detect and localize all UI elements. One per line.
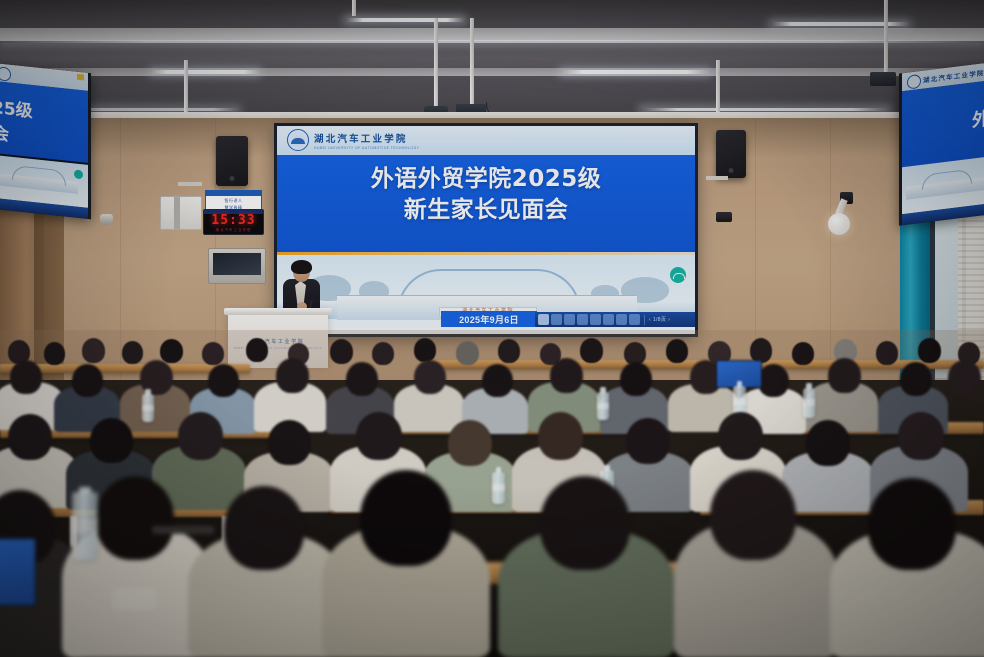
led-clock-subtext: 湖北汽车工业学院: [204, 228, 263, 233]
slide-title: 外语外贸学院2025级 新生家长见面会: [277, 164, 695, 226]
audience-head: [718, 412, 763, 460]
audience-head: [372, 342, 394, 365]
water-bottle: [72, 492, 98, 560]
university-emblem-icon: [287, 129, 309, 151]
eyeglasses: [152, 526, 214, 534]
audience-head: [346, 362, 378, 396]
ceiling-beam-2: [0, 68, 984, 76]
audience-head: [580, 338, 603, 363]
audience-head: [900, 362, 932, 396]
pointer-icon[interactable]: [551, 314, 562, 325]
speaker-bracket-left: [178, 182, 202, 186]
audience-head: [276, 358, 309, 393]
led-light-strip-6: [640, 108, 890, 111]
slide-date-text: 2025年9月6日: [459, 313, 519, 326]
toolbar-divider: [644, 315, 645, 325]
audience-head: [710, 470, 796, 560]
wall-lamp-globe: [828, 213, 850, 235]
audience-head: [414, 338, 436, 362]
slide-title-line2: 新生家长见面会: [277, 195, 695, 226]
light-pole-left: [352, 0, 356, 16]
tissue: [112, 588, 156, 610]
university-logo: 湖北汽车工业学院 HUBEI UNIVERSITY OF AUTOMOTIVE …: [287, 129, 419, 151]
play-icon[interactable]: [538, 314, 549, 325]
university-emblem-icon: [0, 66, 11, 81]
zoom-icon[interactable]: [616, 314, 627, 325]
water-bottle: [597, 392, 609, 420]
audience-head: [448, 420, 492, 466]
audience-head: [538, 412, 583, 460]
wall-speaker-right: [716, 130, 746, 178]
audience-head: [792, 342, 814, 365]
audience-head: [620, 362, 652, 396]
prev-page-icon[interactable]: ‹: [649, 317, 651, 323]
audience-head: [868, 478, 956, 570]
audience-head: [82, 338, 105, 363]
audience-head: [202, 342, 224, 365]
logo-name-en: HUBEI UNIVERSITY OF AUTOMOTIVE TECHNOLOG…: [314, 146, 419, 150]
main-projection-screen: 湖北汽车工业学院 HUBEI UNIVERSITY OF AUTOMOTIVE …: [277, 126, 695, 334]
ceiling-projector-right: [870, 72, 896, 86]
slide-grid-icon[interactable]: [603, 314, 614, 325]
water-bottle: [492, 472, 505, 504]
water-bottle: [142, 394, 154, 422]
next-page-icon[interactable]: ›: [668, 317, 670, 323]
phone-screen: [0, 539, 35, 605]
audience-head: [268, 420, 311, 465]
highlighter-icon[interactable]: [577, 314, 588, 325]
wall-control-unit[interactable]: [160, 196, 202, 230]
audience-head: [876, 341, 898, 365]
audience-head: [550, 358, 583, 393]
audience-area: [0, 330, 984, 657]
led-light-strip-2: [150, 70, 260, 74]
right-display-tv: 湖北汽车工业学院 外: [899, 62, 984, 225]
audience-head: [330, 339, 353, 364]
audience-head: [96, 476, 174, 560]
audience-head: [948, 360, 981, 395]
audience-head: [356, 412, 402, 460]
smartphone[interactable]: [0, 538, 36, 606]
audience-head: [414, 360, 446, 394]
audience-head: [918, 338, 941, 363]
audience-head: [224, 486, 304, 570]
podium-top: [224, 308, 332, 315]
audience-head: [898, 412, 944, 460]
presenter-hair: [291, 260, 312, 274]
audience-head: [456, 341, 479, 365]
water-bottle: [803, 388, 815, 418]
led-light-strip-4: [560, 70, 710, 74]
tv-label-sticker: [77, 74, 84, 81]
wall-speaker-left: [216, 136, 248, 186]
audience-head: [246, 338, 268, 362]
emergency-light: [716, 212, 732, 222]
audience-head: [540, 476, 630, 570]
wall-monitor: [208, 248, 266, 284]
audience-head: [482, 364, 513, 397]
lecture-hall-photo: 25级 会 湖北汽车工业学院 外 湖北汽车工业学院 HUB: [0, 0, 984, 657]
audience-head: [498, 339, 520, 363]
pen-icon[interactable]: [564, 314, 575, 325]
audience-head: [626, 418, 670, 464]
audience-head: [160, 339, 183, 363]
audience-head: [72, 364, 103, 397]
audience-head: [360, 470, 452, 566]
audience-head: [44, 342, 65, 365]
speaker-bracket-right: [706, 176, 728, 180]
slide-title-line1: 外语外贸学院2025级: [277, 164, 695, 195]
audience-head: [122, 341, 143, 364]
camera-pole: [434, 18, 438, 110]
blackscreen-icon[interactable]: [629, 314, 640, 325]
left-display-tv: 25级 会: [0, 63, 91, 219]
dome-camera-icon: [100, 214, 113, 225]
projector-pole-center: [470, 18, 474, 108]
audience-head: [758, 364, 789, 397]
audience-head: [8, 414, 52, 460]
audience-head: [208, 364, 239, 397]
slide-badge-icon: [670, 267, 686, 283]
light-pole-right: [884, 0, 888, 78]
led-light-strip-5: [770, 22, 910, 26]
page-indicator: 1/8页: [653, 316, 666, 323]
audience-head: [666, 339, 688, 363]
led-light-strip-1: [0, 40, 984, 43]
slide-date-chip: 2025年9月6日: [441, 311, 537, 327]
logo-name-cn: 湖北汽车工业学院: [314, 131, 419, 145]
led-light-strip-3: [345, 18, 465, 22]
wall-sign-line1: 智行讲人: [206, 196, 261, 203]
audience-head: [806, 420, 850, 466]
audience-head: [90, 418, 133, 463]
presentation-toolbar[interactable]: ‹ 1/8页 ›: [535, 312, 695, 327]
slide-header: 湖北汽车工业学院 HUBEI UNIVERSITY OF AUTOMOTIVE …: [277, 126, 695, 155]
audience-head: [178, 412, 223, 460]
audience-head: [828, 358, 861, 393]
audience-head: [10, 360, 42, 394]
led-clock: 15:33 湖北汽车工业学院: [203, 209, 264, 235]
university-emblem-icon: [907, 74, 921, 90]
led-clock-time: 15:33: [204, 214, 263, 228]
eraser-icon[interactable]: [590, 314, 601, 325]
